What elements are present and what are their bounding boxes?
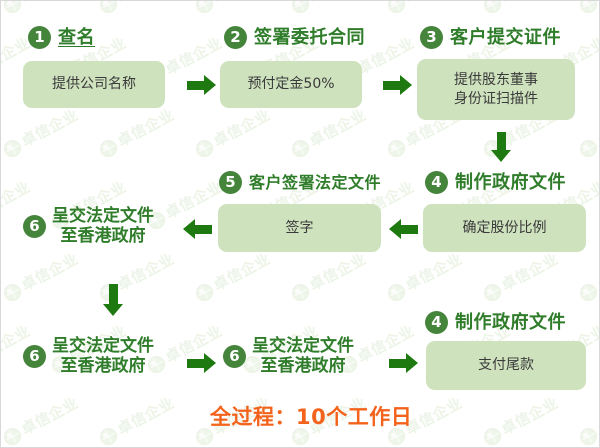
step-4-box-text: 确定股份比例: [463, 219, 547, 238]
step-3-box-text-line2: 身份证扫描件: [454, 90, 538, 109]
step-6a-node[interactable]: 6 呈交法定文件 至香港政府: [23, 207, 154, 246]
step-6c-label: 呈交法定文件 至香港政府: [252, 337, 354, 376]
step-3-box[interactable]: 提供股东董事 身份证扫描件: [417, 59, 575, 120]
step-6a-label: 呈交法定文件 至香港政府: [52, 207, 154, 246]
step-3-title: 客户提交证件: [450, 29, 561, 47]
step-3-number: 3: [420, 26, 443, 49]
step-6b-node[interactable]: 6 呈交法定文件 至香港政府: [23, 337, 154, 376]
step-5-title: 客户签署法定文件: [249, 175, 381, 191]
step-4-header: 4 制作政府文件: [425, 171, 566, 194]
step-4b-number: 4: [425, 311, 448, 334]
arrow-step6a-to-step6b: [103, 284, 123, 316]
step-6b-label-line2: 至香港政府: [52, 357, 154, 377]
step-6a-label-line1: 呈交法定文件: [52, 207, 154, 227]
step-6c-number: 6: [223, 345, 246, 368]
step-4-number: 4: [425, 171, 448, 194]
step-2-box-text: 预付定金50%: [247, 75, 334, 94]
step-2-header: 2 签署委托合同: [224, 26, 365, 49]
step-3-box-text-line1: 提供股东董事: [454, 71, 538, 90]
arrow-step5-to-step6a: [183, 219, 212, 239]
step-6c-label-line2: 至香港政府: [252, 357, 354, 377]
arrow-step4-to-step5: [389, 219, 418, 239]
step-4-box[interactable]: 确定股份比例: [423, 204, 586, 252]
arrow-step3-to-step4: [491, 132, 511, 162]
total-duration-text: 全过程：10个工作日: [210, 407, 412, 428]
step-4b-header: 4 制作政府文件: [425, 311, 566, 334]
step-4b-title: 制作政府文件: [455, 314, 566, 332]
step-1-title: 查名: [58, 29, 95, 47]
arrow-step1-to-step2: [187, 75, 216, 95]
arrow-step2-to-step3: [383, 75, 412, 95]
step-6a-label-line2: 至香港政府: [52, 227, 154, 247]
step-6c-label-line1: 呈交法定文件: [252, 337, 354, 357]
step-4b-box-text: 支付尾款: [478, 356, 534, 375]
arrow-step6b-to-step6c: [187, 353, 216, 373]
step-2-number: 2: [224, 26, 247, 49]
step-4-title: 制作政府文件: [455, 174, 566, 192]
arrow-step6c-to-step4b: [389, 353, 418, 373]
step-6a-number: 6: [23, 215, 46, 238]
step-5-box[interactable]: 签字: [218, 204, 381, 252]
step-2-title: 签署委托合同: [254, 29, 365, 47]
step-6c-node[interactable]: 6 呈交法定文件 至香港政府: [223, 337, 354, 376]
step-6b-number: 6: [23, 345, 46, 368]
step-5-header: 5 客户签署法定文件: [219, 171, 381, 194]
step-2-box[interactable]: 预付定金50%: [220, 61, 362, 108]
step-5-number: 5: [219, 171, 242, 194]
step-1-box-text: 提供公司名称: [52, 75, 136, 94]
step-4b-box[interactable]: 支付尾款: [426, 341, 586, 390]
step-5-box-text: 签字: [286, 219, 314, 238]
step-1-header: 1 查名: [28, 26, 95, 49]
step-1-number: 1: [28, 26, 51, 49]
flowchart-canvas: 卓信企业卓信企业卓信企业卓信企业卓信企业卓信企业卓信企业卓信企业卓信企业卓信企业…: [0, 0, 600, 448]
flowchart-content: 1 查名 提供公司名称 2 签署委托合同 预付定金50% 3 客户提交证件 提供…: [1, 1, 599, 447]
step-1-box[interactable]: 提供公司名称: [23, 61, 165, 108]
step-6b-label: 呈交法定文件 至香港政府: [52, 337, 154, 376]
step-6b-label-line1: 呈交法定文件: [52, 337, 154, 357]
step-3-header: 3 客户提交证件: [420, 26, 561, 49]
